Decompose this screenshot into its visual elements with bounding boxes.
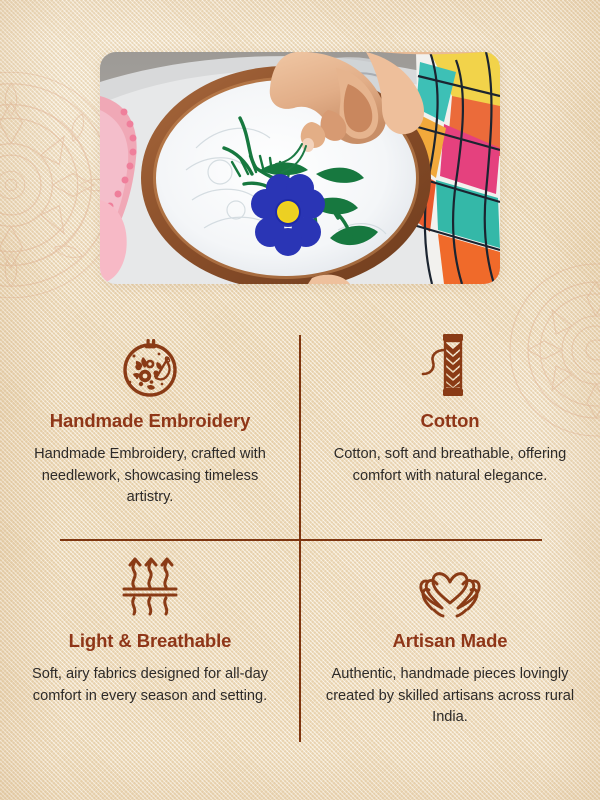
feature-title: Cotton xyxy=(304,410,596,431)
feature-title: Light & Breathable xyxy=(4,630,296,651)
feature-cell-artisan-made: Artisan Made Authentic, handmade pieces … xyxy=(304,548,596,729)
feature-description: Soft, airy fabrics designed for all-day … xyxy=(24,664,276,707)
feature-description: Authentic, handmade pieces lovingly crea… xyxy=(324,664,576,729)
feature-title: Artisan Made xyxy=(304,630,596,651)
hands-heart-icon xyxy=(304,548,596,620)
embroidery-hoop-photo xyxy=(100,52,500,284)
feature-cell-handmade-embroidery: Handmade Embroidery Handmade Embroidery,… xyxy=(4,328,296,509)
embroidery-hoop-icon xyxy=(4,328,296,400)
feature-title: Handmade Embroidery xyxy=(4,410,296,431)
feature-grid: Handmade Embroidery Handmade Embroidery,… xyxy=(0,320,600,740)
feature-cell-light-breathable: Light & Breathable Soft, airy fabrics de… xyxy=(4,548,296,707)
grid-horizontal-divider xyxy=(60,539,542,541)
feature-description: Cotton, soft and breathable, offering co… xyxy=(324,444,576,487)
breathable-fabric-icon xyxy=(4,548,296,620)
feature-cell-cotton: Cotton Cotton, soft and breathable, offe… xyxy=(304,328,596,487)
page-root: Handmade Embroidery Handmade Embroidery,… xyxy=(0,0,600,800)
thread-spool-icon xyxy=(304,328,596,400)
feature-description: Handmade Embroidery, crafted with needle… xyxy=(24,444,276,509)
